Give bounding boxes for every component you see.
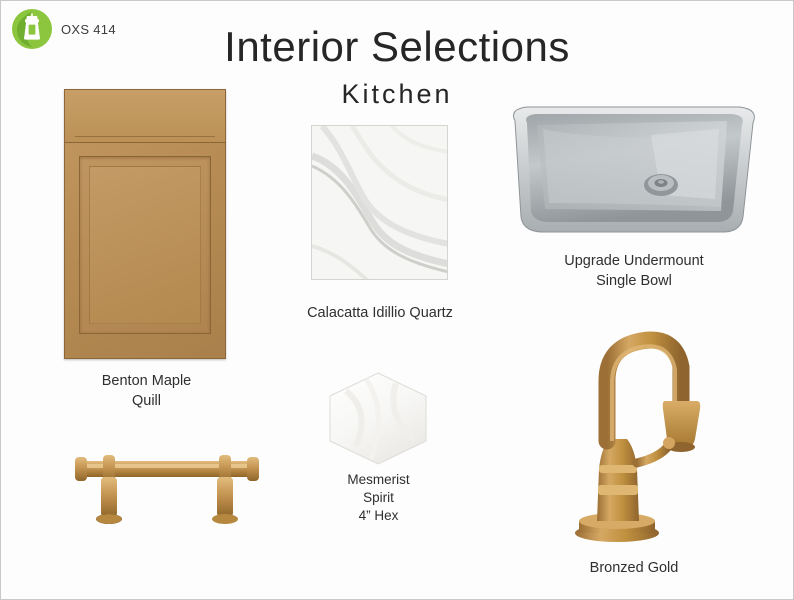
cabinet-panel-frame [79,156,211,334]
sink-caption: Upgrade Undermount Single Bowl [509,251,759,291]
page-title: Interior Selections [1,23,793,71]
tile-caption: Mesmerist Spirit 4” Hex [311,471,446,525]
cabinet-top-rail [65,90,225,143]
hex-tile-sample [326,371,431,466]
kitchen-sink-image [501,99,766,244]
selections-sheet: OXS 414 Interior Selections Kitchen Bent… [0,0,794,600]
cabinet-door-sample [64,89,226,359]
cabinet-panel-center [89,166,201,324]
cabinet-pull-image [61,433,271,543]
faucet-caption: Bronzed Gold [509,558,759,578]
kitchen-faucet-image [549,289,739,544]
countertop-caption: Calacatta Idillio Quartz [284,303,476,323]
quartz-countertop-sample [311,125,448,280]
cabinet-caption: Benton Maple Quill [44,371,249,411]
